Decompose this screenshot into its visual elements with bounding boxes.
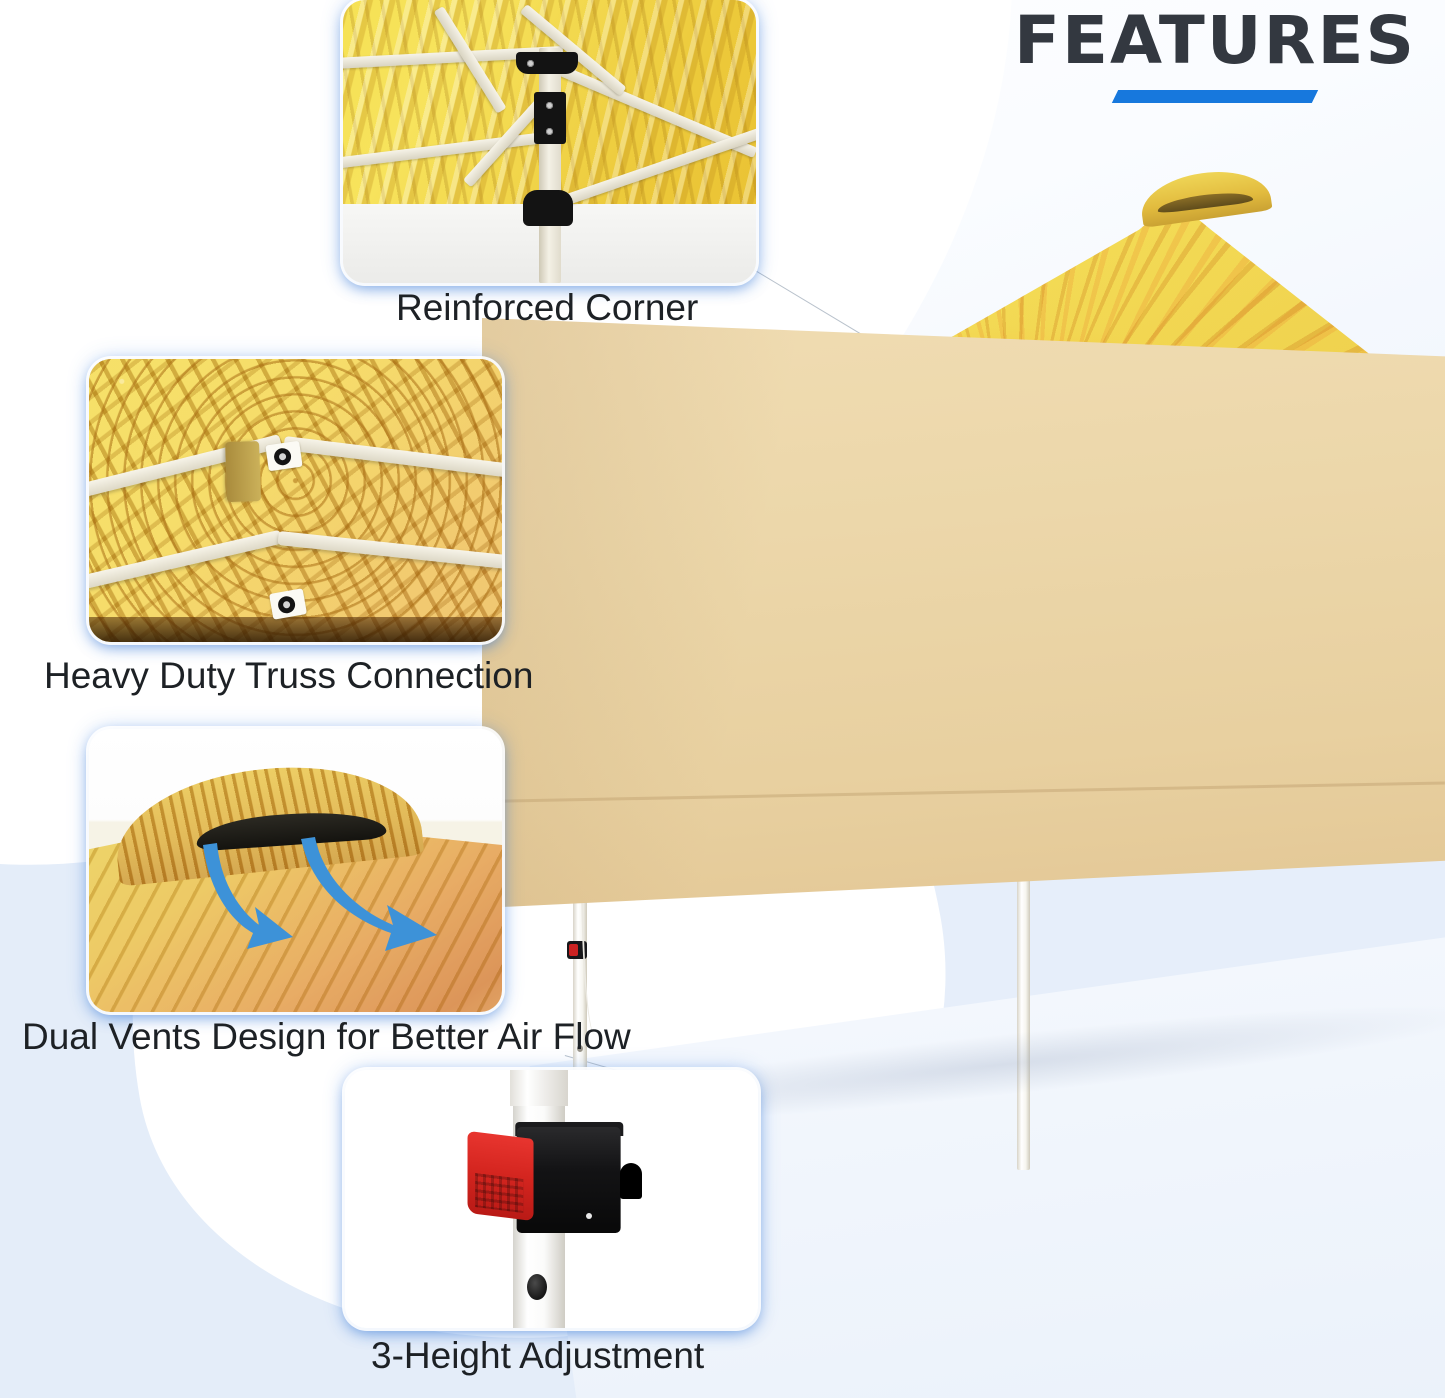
- corner-bracket-screw: [527, 60, 534, 67]
- corner-bracket-screw: [546, 102, 553, 109]
- inset-panel-dual-vents[interactable]: [89, 729, 502, 1012]
- caption-heavy-duty-truss: Heavy Duty Truss Connection: [44, 655, 533, 697]
- corner-bracket-screw: [546, 128, 553, 135]
- height-adjust-hole: [527, 1274, 547, 1300]
- corner-bracket-top: [516, 52, 578, 74]
- truss-photo-bottom-shadow: [89, 617, 502, 642]
- airflow-arrow-right-icon: [297, 833, 457, 963]
- feature-infographic: FEATURES: [0, 0, 1445, 1398]
- canopy-sidewall-shading: [482, 318, 1445, 908]
- caption-dual-vents: Dual Vents Design for Better Air Flow: [22, 1016, 631, 1058]
- height-leg-upper-section: [510, 1070, 568, 1106]
- truss-vertical-strap: [225, 441, 261, 502]
- inset-panel-height-adjustment[interactable]: [345, 1070, 758, 1328]
- title-underline-accent: [1112, 90, 1318, 103]
- inset-image-heavy-duty-truss: [89, 359, 502, 642]
- height-housing-screw: [586, 1213, 592, 1219]
- page-title: FEATURES: [1001, 8, 1429, 74]
- truss-bolt-connector: [265, 441, 302, 471]
- height-lever-grip-texture: [475, 1173, 523, 1213]
- caption-height-adjustment: 3-Height Adjustment: [371, 1335, 704, 1377]
- caption-reinforced-corner: Reinforced Corner: [396, 287, 698, 329]
- inset-panel-heavy-duty-truss[interactable]: [89, 359, 502, 642]
- inset-image-dual-vents: [89, 729, 502, 1012]
- corner-bracket-lower: [523, 190, 573, 226]
- corner-bracket-upper: [534, 92, 566, 144]
- inset-panel-reinforced-corner[interactable]: [343, 0, 756, 283]
- features-header: FEATURES: [1005, 8, 1425, 103]
- height-housing-slot: [620, 1163, 642, 1199]
- corner-leg-pole: [539, 48, 561, 283]
- inset-image-height-adjustment: [345, 1070, 758, 1328]
- inset-image-reinforced-corner: [343, 0, 756, 283]
